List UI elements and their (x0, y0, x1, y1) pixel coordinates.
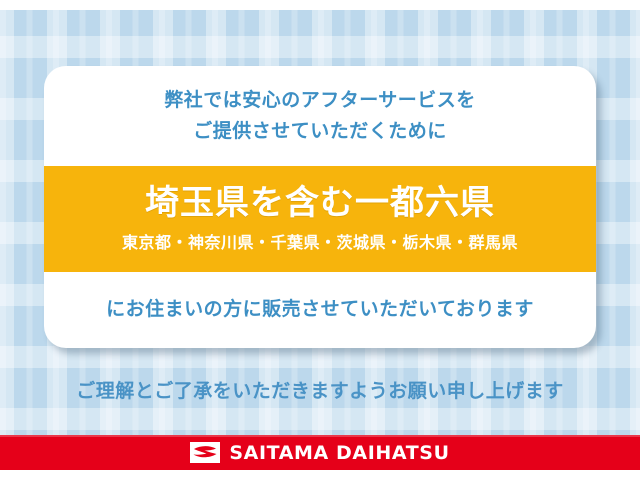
brand-footer-bar: SAITAMA DAIHATSU (0, 435, 640, 470)
request-note: ご理解とご了承をいただきますようお願い申し上げます (0, 376, 640, 403)
notice-card: 弊社では安心のアフターサービスを ご提供させていただくために 埼玉県を含む一都六… (44, 66, 596, 348)
closing-line: にお住まいの方に販売させていただいております (106, 296, 534, 324)
daihatsu-d-mark-icon (190, 442, 220, 463)
card-intro-block: 弊社では安心のアフターサービスを ご提供させていただくために (44, 66, 596, 166)
intro-line-1: 弊社では安心のアフターサービスを (164, 87, 476, 115)
band-title: 埼玉県を含む一都六県 (145, 185, 495, 222)
brand-name: SAITAMA DAIHATSU (229, 442, 449, 464)
card-closing-block: にお住まいの方に販売させていただいております (44, 272, 596, 348)
intro-line-2: ご提供させていただくために (193, 118, 447, 146)
band-prefecture-list: 東京都・神奈川県・千葉県・茨城県・栃木県・群馬県 (122, 229, 518, 253)
dealer-notice-poster: 弊社では安心のアフターサービスを ご提供させていただくために 埼玉県を含む一都六… (0, 0, 640, 480)
footer-bar-highlight (0, 435, 640, 437)
highlight-band: 埼玉県を含む一都六県 東京都・神奈川県・千葉県・茨城県・栃木県・群馬県 (44, 166, 596, 272)
